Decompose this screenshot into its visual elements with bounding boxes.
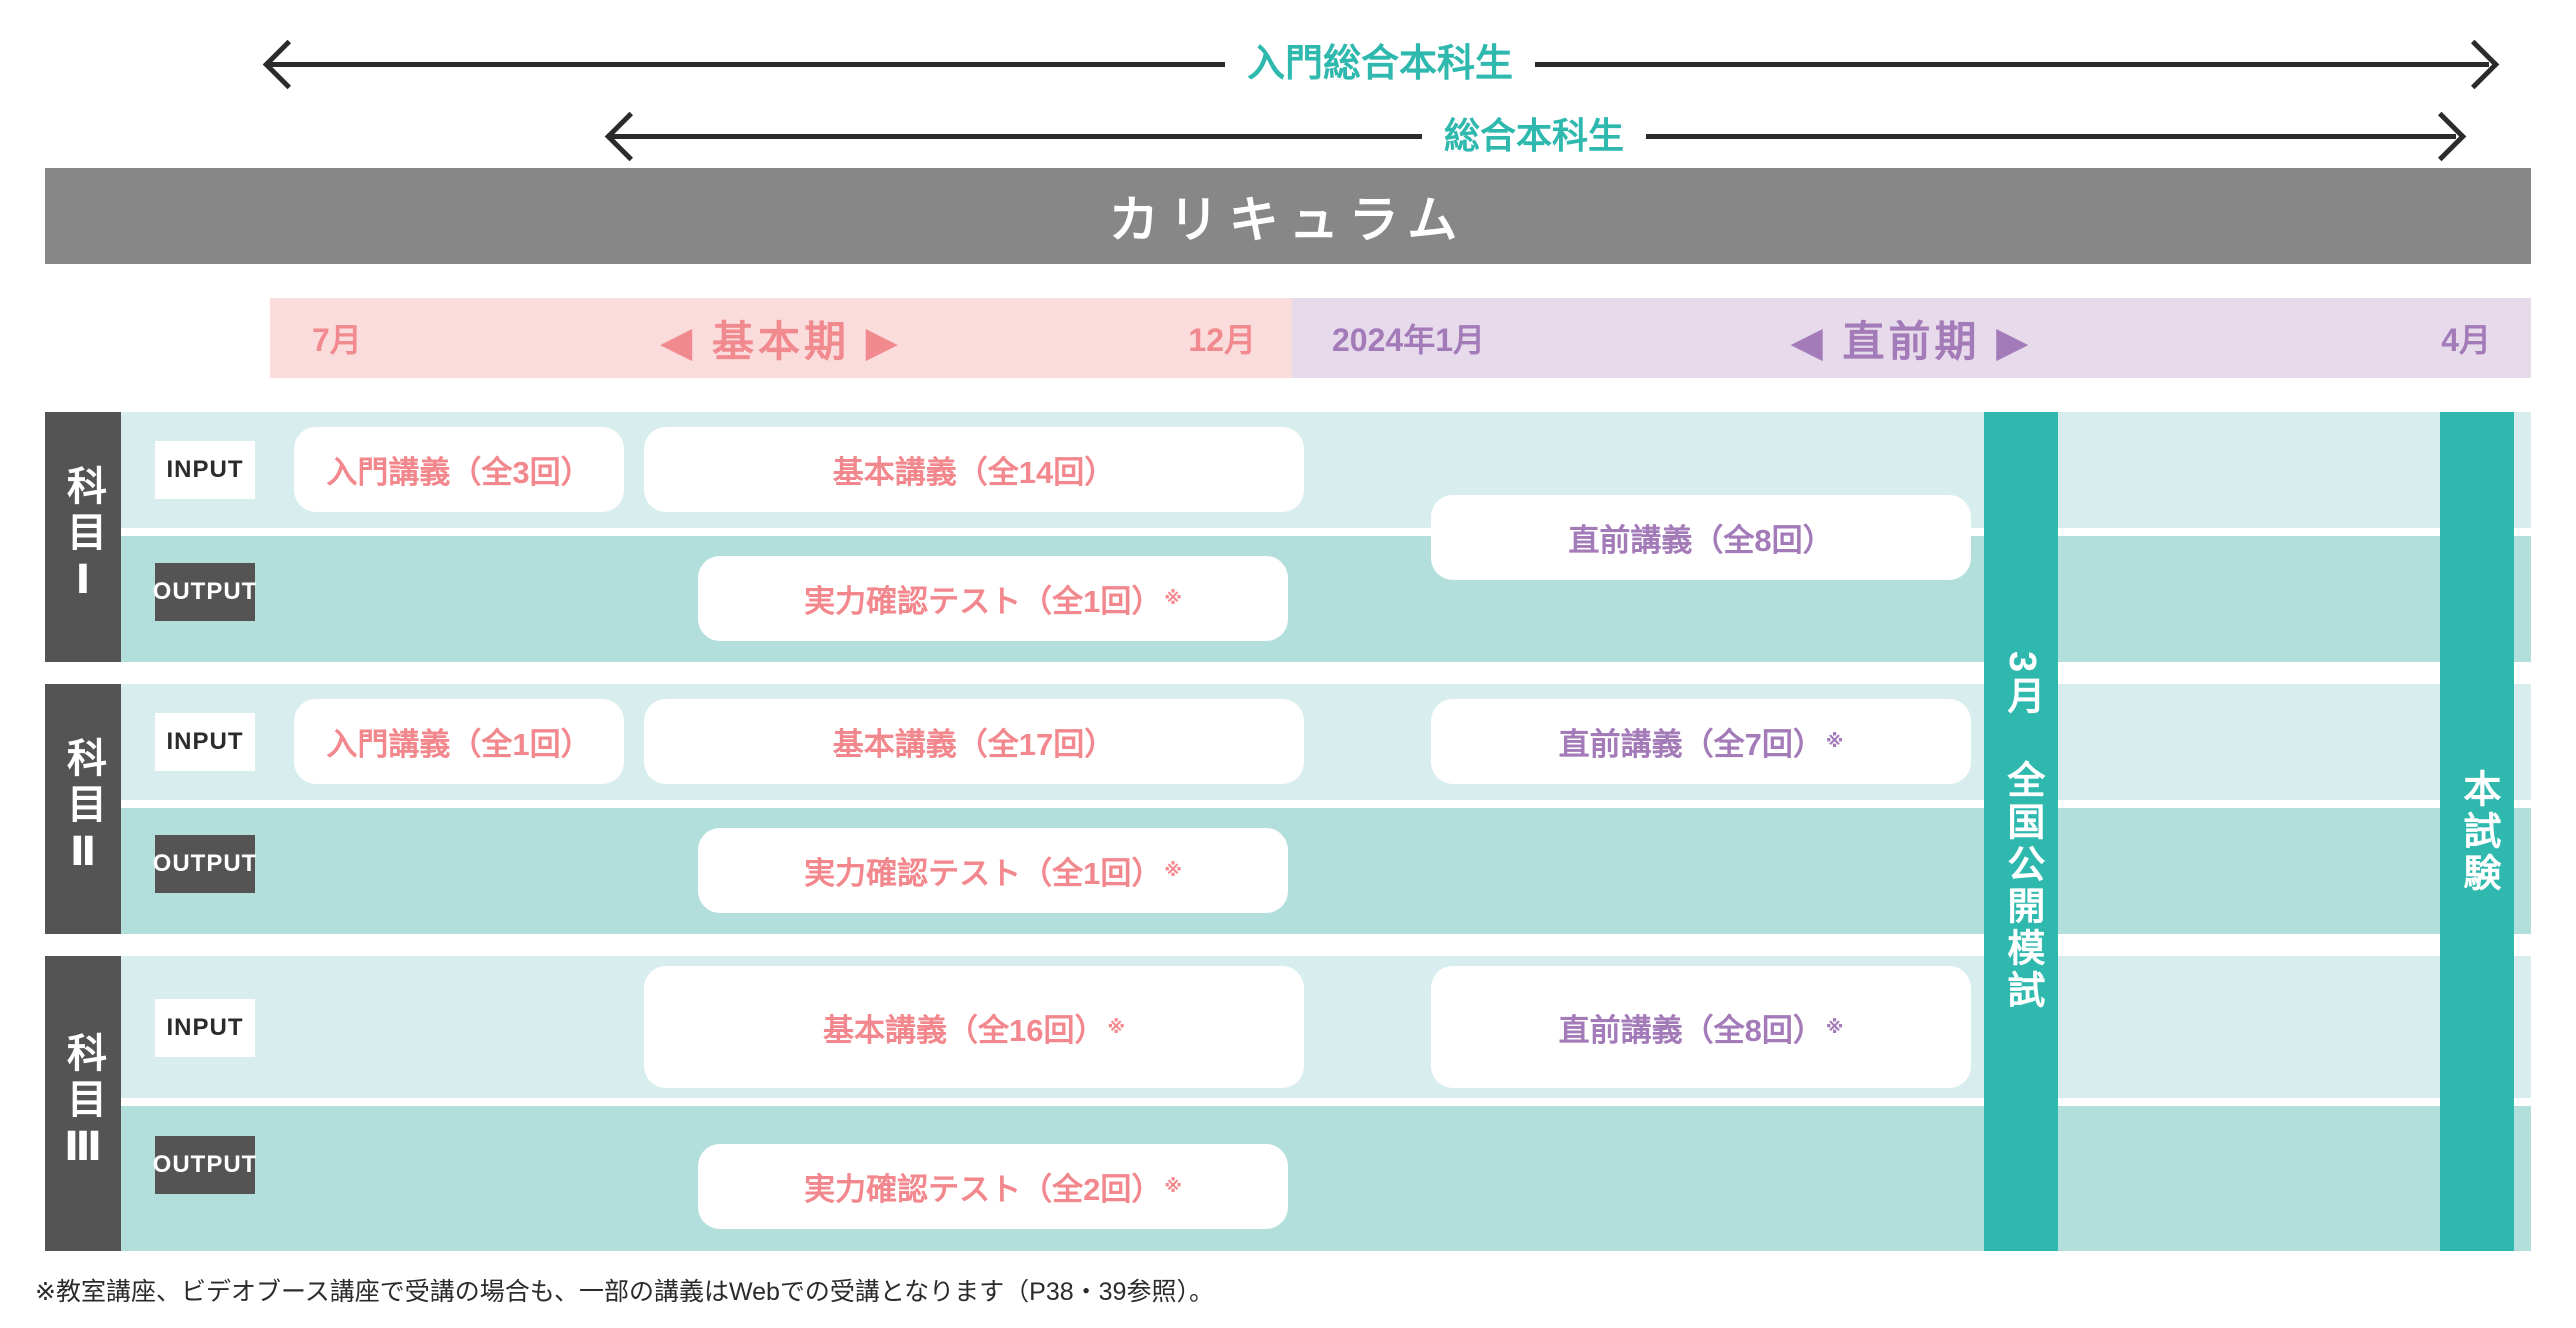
arrow-line-left xyxy=(270,62,1225,67)
period-end-label: 4月 xyxy=(2441,315,2491,361)
output-tag-text: OUTPUT xyxy=(153,850,258,878)
subject-label-1: 科目Ⅰ xyxy=(45,412,121,662)
input-tag: INPUT xyxy=(155,441,255,499)
lane-output xyxy=(121,536,2531,662)
input-tag-text: INPUT xyxy=(167,456,244,484)
scope-label-sogo: 総合本科生 xyxy=(1422,118,1646,154)
milestone-label: 3月 全国公開模試 xyxy=(1999,651,2043,1012)
input-tag-text: INPUT xyxy=(167,1014,244,1042)
footnote-marker-icon: ※ xyxy=(1107,1017,1125,1038)
course-pill-kihon-kougi[interactable]: 基本講義（全17回） xyxy=(644,699,1304,784)
course-pill-label: 基本講義（全16回） xyxy=(823,1005,1105,1050)
footnote-marker-icon: ※ xyxy=(1164,860,1182,881)
period-end-label: 12月 xyxy=(1188,315,1256,361)
scope-label-nyumon: 入門総合本科生 xyxy=(1225,45,1535,83)
course-pill-jitsuryoku-test[interactable]: 実力確認テスト（全1回）※ xyxy=(698,828,1288,913)
course-pill-label: 直前講義（全8回） xyxy=(1568,515,1833,560)
course-pill-kihon-kougi[interactable]: 基本講義（全14回） xyxy=(644,427,1304,512)
lane-output xyxy=(121,1106,2531,1251)
scope-arrow-sogo: 総合本科生 xyxy=(612,118,2456,154)
course-pill-nyumon-kougi[interactable]: 入門講義（全1回） xyxy=(294,699,624,784)
arrow-line-right xyxy=(1646,134,2456,139)
subject-label-3: 科目Ⅲ xyxy=(45,956,121,1251)
milestone-bar-zenkoku-kokai-moshi: 3月 全国公開模試 xyxy=(1984,412,2058,1251)
subject-row: 科目Ⅲ INPUT OUTPUT 基本講義（全16回）※ 直前講義（全8回）※ … xyxy=(45,956,2531,1251)
lane-input xyxy=(121,956,2531,1098)
subject-label-text: 科目Ⅲ xyxy=(63,1032,103,1176)
input-tag: INPUT xyxy=(155,713,255,771)
course-pill-jitsuryoku-test[interactable]: 実力確認テスト（全2回）※ xyxy=(698,1144,1288,1229)
output-tag-text: OUTPUT xyxy=(153,1151,258,1179)
course-pill-label: 直前講義（全8回） xyxy=(1559,1005,1824,1050)
subject-row: 科目Ⅱ INPUT OUTPUT 入門講義（全1回） 基本講義（全17回） 直前… xyxy=(45,684,2531,934)
course-pill-label: 実力確認テスト（全1回） xyxy=(804,848,1162,893)
subject-row: 科目Ⅰ INPUT OUTPUT 入門講義（全3回） 基本講義（全14回） 直前… xyxy=(45,412,2531,662)
output-tag-text: OUTPUT xyxy=(153,578,258,606)
course-pill-jitsuryoku-test[interactable]: 実力確認テスト（全1回）※ xyxy=(698,556,1288,641)
lane-output xyxy=(121,808,2531,934)
course-pill-chokuzen-kougi[interactable]: 直前講義（全7回）※ xyxy=(1431,699,1971,784)
subject-label-text: 科目Ⅰ xyxy=(63,465,103,609)
footnote-marker-icon: ※ xyxy=(1164,1176,1182,1197)
period-name-kihonki: ◀ 基本期 ▶ xyxy=(270,308,1292,369)
milestone-label: 本試験 xyxy=(2455,769,2499,895)
footnote-marker-icon: ※ xyxy=(1826,731,1844,752)
input-tag: INPUT xyxy=(155,999,255,1057)
arrow-line-right xyxy=(1535,62,2489,67)
course-pill-nyumon-kougi[interactable]: 入門講義（全3回） xyxy=(294,427,624,512)
output-tag: OUTPUT xyxy=(155,563,255,621)
arrow-line-left xyxy=(612,134,1422,139)
course-pill-label: 入門講義（全1回） xyxy=(326,719,591,764)
course-pill-label: 基本講義（全17回） xyxy=(833,719,1115,764)
page-title: カリキュラム xyxy=(1109,180,1468,252)
output-tag: OUTPUT xyxy=(155,1136,255,1194)
scope-arrow-nyumon: 入門総合本科生 xyxy=(270,45,2489,83)
subject-label-text: 科目Ⅱ xyxy=(63,737,103,881)
milestone-bar-honshiken: 本試験 xyxy=(2440,412,2514,1251)
course-pill-label: 基本講義（全14回） xyxy=(833,447,1115,492)
course-pill-label: 直前講義（全7回） xyxy=(1559,719,1824,764)
footnote-marker-icon: ※ xyxy=(1826,1017,1844,1038)
course-pill-chokuzen-kougi[interactable]: 直前講義（全8回）※ xyxy=(1431,966,1971,1088)
course-pill-label: 実力確認テスト（全1回） xyxy=(804,576,1162,621)
course-pill-label: 実力確認テスト（全2回） xyxy=(804,1164,1162,1209)
period-band-chokuzenki: 2024年1月 ◀ 直前期 ▶ 4月 xyxy=(1292,298,2531,378)
course-pill-kihon-kougi[interactable]: 基本講義（全16回）※ xyxy=(644,966,1304,1088)
footnote-text: ※教室講座、ビデオブース講座で受講の場合も、一部の講義はWebでの受講となります… xyxy=(35,1272,1214,1308)
input-tag-text: INPUT xyxy=(167,728,244,756)
curriculum-title-band: カリキュラム xyxy=(45,168,2531,264)
subject-label-2: 科目Ⅱ xyxy=(45,684,121,934)
curriculum-diagram: 入門総合本科生 総合本科生 カリキュラム 7月 ◀ 基本期 ▶ 12月 2024… xyxy=(0,0,2576,1328)
course-pill-chokuzen-kougi[interactable]: 直前講義（全8回） xyxy=(1431,495,1971,580)
output-tag: OUTPUT xyxy=(155,835,255,893)
footnote-marker-icon: ※ xyxy=(1164,588,1182,609)
period-name-chokuzenki: ◀ 直前期 ▶ xyxy=(1292,308,2531,369)
course-pill-label: 入門講義（全3回） xyxy=(326,447,591,492)
period-band-kihonki: 7月 ◀ 基本期 ▶ 12月 xyxy=(270,298,1292,378)
